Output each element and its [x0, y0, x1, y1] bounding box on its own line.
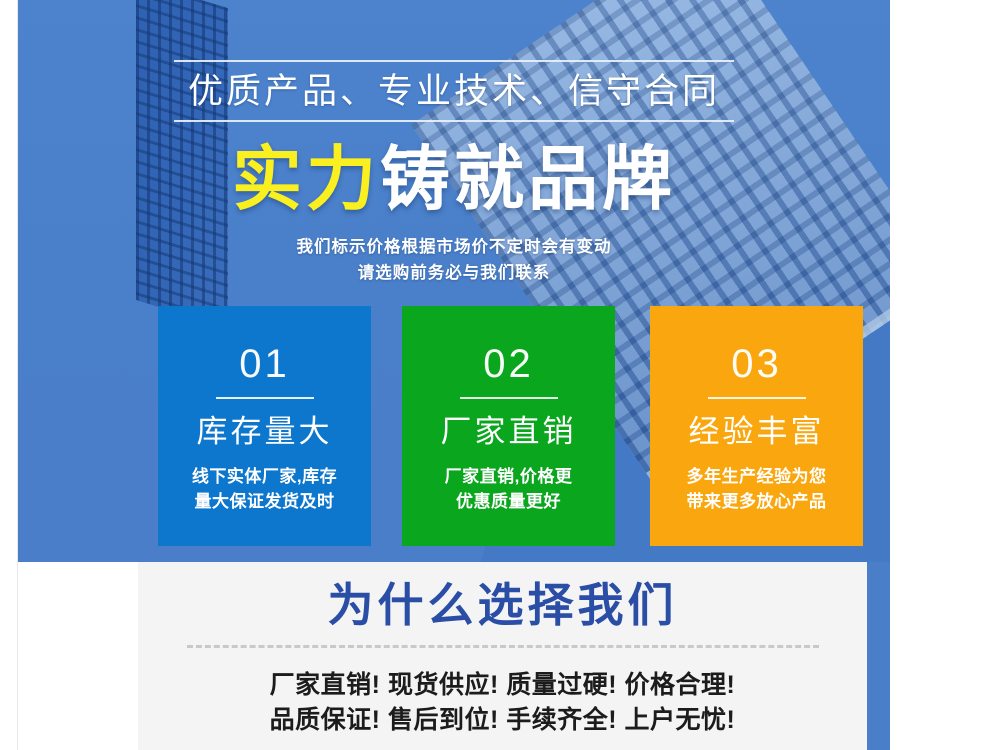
hero-section: 优质产品、专业技术、信守合同 实力铸就品牌 我们标示价格根据市场价不定时会有变动…: [18, 0, 890, 562]
slogans-line-1: 厂家直销! 现货供应! 质量过硬! 价格合理!: [138, 668, 867, 704]
card-number: 02: [402, 344, 615, 384]
card-desc-line-2: 带来更多放心产品: [660, 490, 853, 515]
why-choose-us-panel: 为什么选择我们 厂家直销! 现货供应! 质量过硬! 价格合理! 品质保证! 售后…: [138, 562, 867, 750]
card-divider: [708, 397, 806, 399]
tagline-text: 优质产品、专业技术、信守合同: [18, 62, 890, 120]
feature-card-02[interactable]: 02 厂家直销 厂家直销,价格更 优惠质量更好: [402, 306, 615, 546]
subline-second: 请选购前务必与我们联系: [18, 261, 890, 287]
card-desc-line-1: 线下实体厂家,库存: [168, 465, 361, 490]
subline-first: 我们标示价格根据市场价不定时会有变动: [18, 235, 890, 261]
right-blue-strip: [867, 562, 890, 750]
card-description: 线下实体厂家,库存 量大保证发货及时: [158, 465, 371, 514]
feature-cards: 01 库存量大 线下实体厂家,库存 量大保证发货及时 02 厂家直销 厂家直销,…: [158, 306, 864, 546]
tagline-rule-bottom: [174, 120, 734, 122]
card-desc-line-2: 优惠质量更好: [412, 490, 605, 515]
slogans-block: 厂家直销! 现货供应! 质量过硬! 价格合理! 品质保证! 售后到位! 手续齐全…: [138, 668, 867, 739]
subline-block: 我们标示价格根据市场价不定时会有变动 请选购前务必与我们联系: [18, 235, 890, 286]
card-description: 厂家直销,价格更 优惠质量更好: [402, 465, 615, 514]
card-desc-line-1: 厂家直销,价格更: [412, 465, 605, 490]
card-divider: [216, 397, 314, 399]
card-number: 01: [158, 344, 371, 384]
slogans-line-2: 品质保证! 售后到位! 手续齐全! 上户无忧!: [138, 703, 867, 739]
panel-dashed-divider: [187, 645, 819, 648]
panel-title: 为什么选择我们: [138, 562, 867, 631]
tagline-rule-top: [174, 60, 734, 62]
feature-card-01[interactable]: 01 库存量大 线下实体厂家,库存 量大保证发货及时: [158, 306, 371, 546]
card-description: 多年生产经验为您 带来更多放心产品: [650, 465, 863, 514]
card-title: 库存量大: [158, 415, 371, 449]
card-title: 厂家直销: [402, 415, 615, 449]
headline: 实力铸就品牌: [18, 142, 890, 218]
card-divider: [460, 397, 558, 399]
card-desc-line-1: 多年生产经验为您: [660, 465, 853, 490]
headline-plain-text: 铸就品牌: [380, 140, 676, 218]
headline-accent-text: 实力: [232, 140, 380, 218]
card-title: 经验丰富: [650, 415, 863, 449]
card-desc-line-2: 量大保证发货及时: [168, 490, 361, 515]
card-number: 03: [650, 344, 863, 384]
tagline-block: 优质产品、专业技术、信守合同: [18, 60, 890, 122]
promo-banner-page: 优质产品、专业技术、信守合同 实力铸就品牌 我们标示价格根据市场价不定时会有变动…: [0, 0, 1000, 750]
feature-card-03[interactable]: 03 经验丰富 多年生产经验为您 带来更多放心产品: [650, 306, 863, 546]
